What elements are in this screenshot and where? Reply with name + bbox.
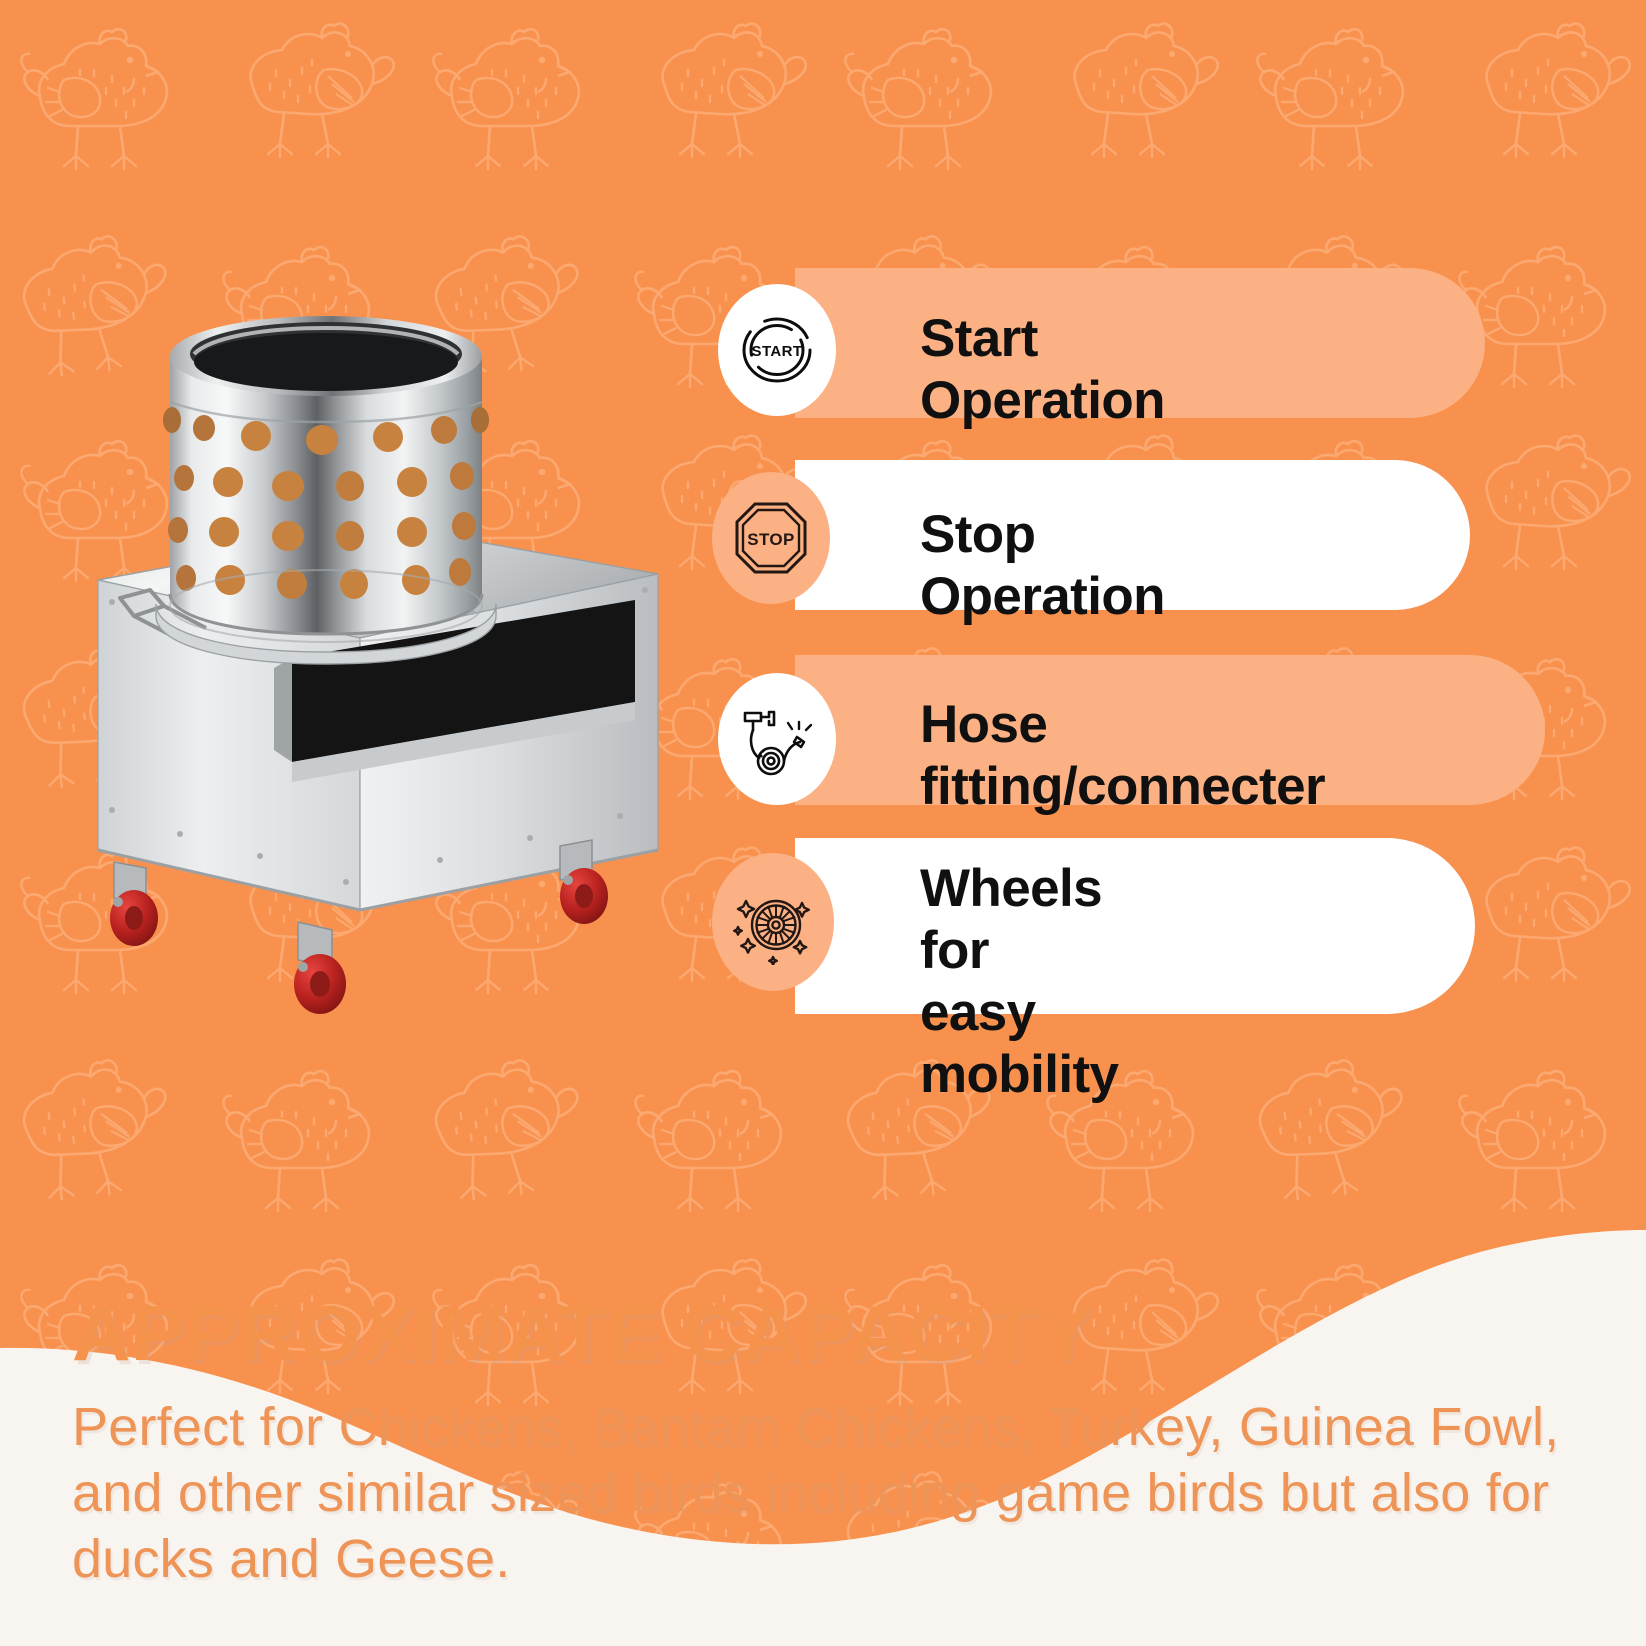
start-icon: START	[718, 284, 836, 416]
hose-fitting-icon	[718, 673, 836, 805]
page-title: APPROXIMATE CAPACITY	[72, 1290, 1632, 1376]
svg-text:STOP: STOP	[747, 530, 795, 549]
capacity-section: APPROXIMATE CAPACITY Perfect for Chicken…	[72, 1290, 1572, 1592]
feature-label: Wheels for easy mobility	[920, 858, 1118, 1106]
infographic-canvas: START Start Operation STOP Stop Operatio…	[0, 0, 1646, 1646]
feature-pill	[795, 838, 1475, 1014]
feature-label: Start Operation	[920, 308, 1165, 432]
capacity-description: Perfect for Chickens, Bantam Chickens, T…	[72, 1394, 1572, 1592]
feature-label: Hose fitting/connecter	[920, 694, 1325, 818]
stop-icon: STOP	[712, 472, 830, 604]
feature-list: START Start Operation STOP Stop Operatio…	[0, 0, 1646, 1100]
feature-label: Stop Operation	[920, 504, 1165, 628]
wheel-icon	[712, 853, 834, 991]
svg-text:START: START	[752, 343, 803, 360]
